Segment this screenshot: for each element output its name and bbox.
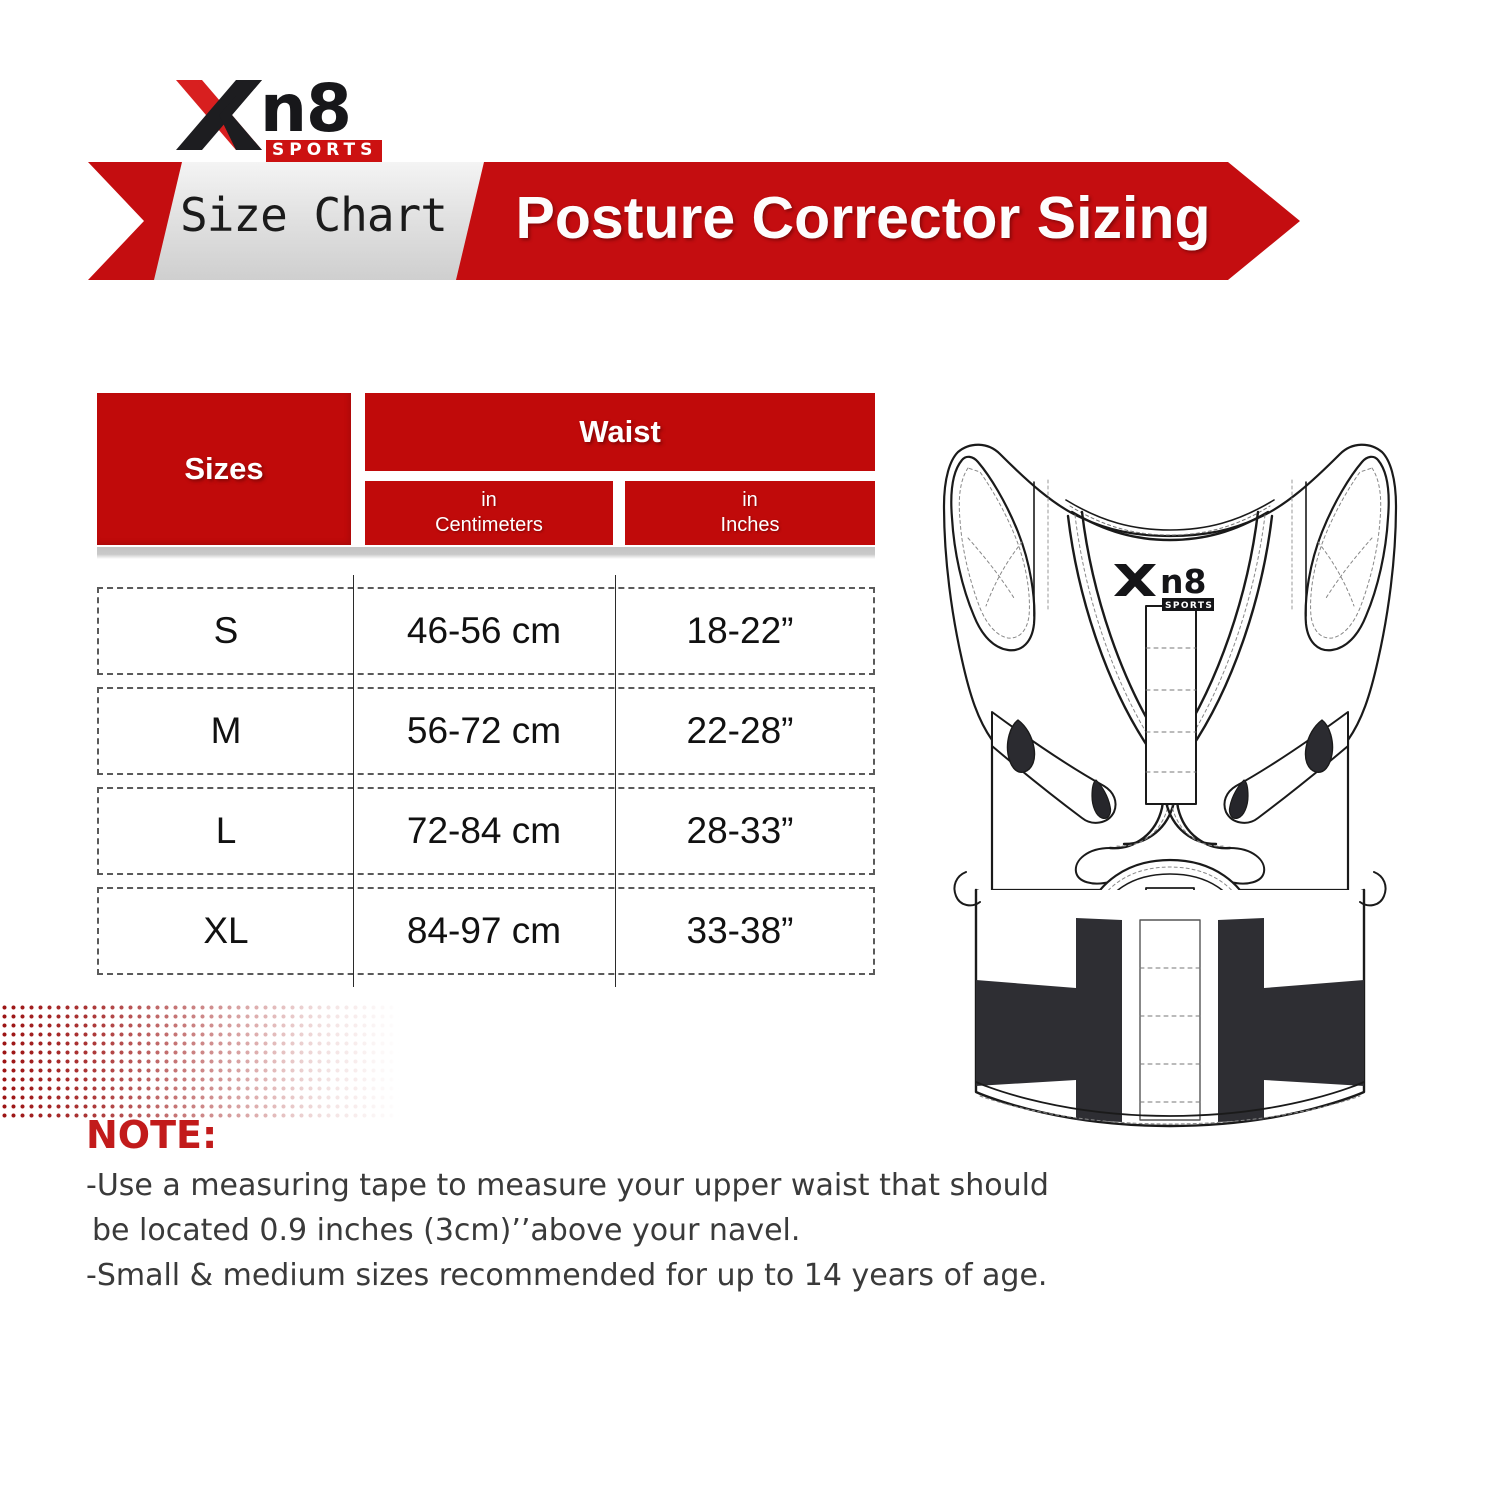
table-row: M 56-72 cm 22-28” bbox=[97, 687, 875, 775]
page-title: Posture Corrector Sizing bbox=[458, 184, 1268, 252]
table-row: XL 84-97 cm 33-38” bbox=[97, 887, 875, 975]
note-line-1: -Use a measuring tape to measure your up… bbox=[86, 1168, 1049, 1203]
note-line-2: be located 0.9 inches (3cm)’’above your … bbox=[92, 1213, 800, 1248]
cell-inches: 18-22” bbox=[615, 610, 865, 652]
posture-corrector-drawing: n8 SPORTS bbox=[900, 420, 1440, 1150]
cell-centimeters: 46-56 cm bbox=[353, 610, 615, 652]
logo-x-icon bbox=[176, 78, 262, 152]
header-shadow-band bbox=[97, 547, 875, 559]
cell-size: L bbox=[99, 810, 353, 852]
brand-logo: n8 SPORTS bbox=[176, 76, 406, 166]
header-cell-inches: in Inches bbox=[625, 481, 875, 545]
size-chart-tab-label: Size Chart bbox=[180, 188, 470, 242]
cell-centimeters: 56-72 cm bbox=[353, 710, 615, 752]
header-banner: Size Chart Posture Corrector Sizing bbox=[88, 162, 1300, 280]
svg-text:n8: n8 bbox=[1160, 562, 1206, 601]
header-cm-line1: in bbox=[481, 488, 497, 513]
cell-size: M bbox=[99, 710, 353, 752]
svg-text:SPORTS: SPORTS bbox=[1165, 601, 1213, 611]
logo-sports-badge: SPORTS bbox=[266, 140, 382, 162]
table-header: Sizes Waist in Centimeters in Inches bbox=[97, 393, 875, 551]
header-in-line2: Inches bbox=[721, 513, 780, 538]
cell-size: S bbox=[99, 610, 353, 652]
cell-inches: 28-33” bbox=[615, 810, 865, 852]
cell-inches: 22-28” bbox=[615, 710, 865, 752]
size-chart-table: Sizes Waist in Centimeters in Inches S 4… bbox=[97, 393, 875, 987]
cell-inches: 33-38” bbox=[615, 910, 865, 952]
table-row: S 46-56 cm 18-22” bbox=[97, 587, 875, 675]
halftone-dot-pattern bbox=[0, 1003, 400, 1118]
cell-centimeters: 84-97 cm bbox=[353, 910, 615, 952]
table-body: S 46-56 cm 18-22” M 56-72 cm 22-28” L 72… bbox=[97, 587, 875, 975]
product-illustration: n8 SPORTS bbox=[900, 420, 1440, 1150]
header-cm-line2: Centimeters bbox=[435, 513, 543, 538]
logo-n8-text: n8 bbox=[260, 76, 351, 142]
note-line-3: -Small & medium sizes recommended for up… bbox=[86, 1258, 1047, 1293]
header-cell-sizes: Sizes bbox=[97, 393, 351, 545]
header-in-line1: in bbox=[742, 488, 758, 513]
header-cell-waist: Waist bbox=[365, 393, 875, 471]
header-cell-centimeters: in Centimeters bbox=[365, 481, 613, 545]
table-row: L 72-84 cm 28-33” bbox=[97, 787, 875, 875]
cell-centimeters: 72-84 cm bbox=[353, 810, 615, 852]
note-heading: NOTE: bbox=[86, 1113, 217, 1157]
cell-size: XL bbox=[99, 910, 353, 952]
